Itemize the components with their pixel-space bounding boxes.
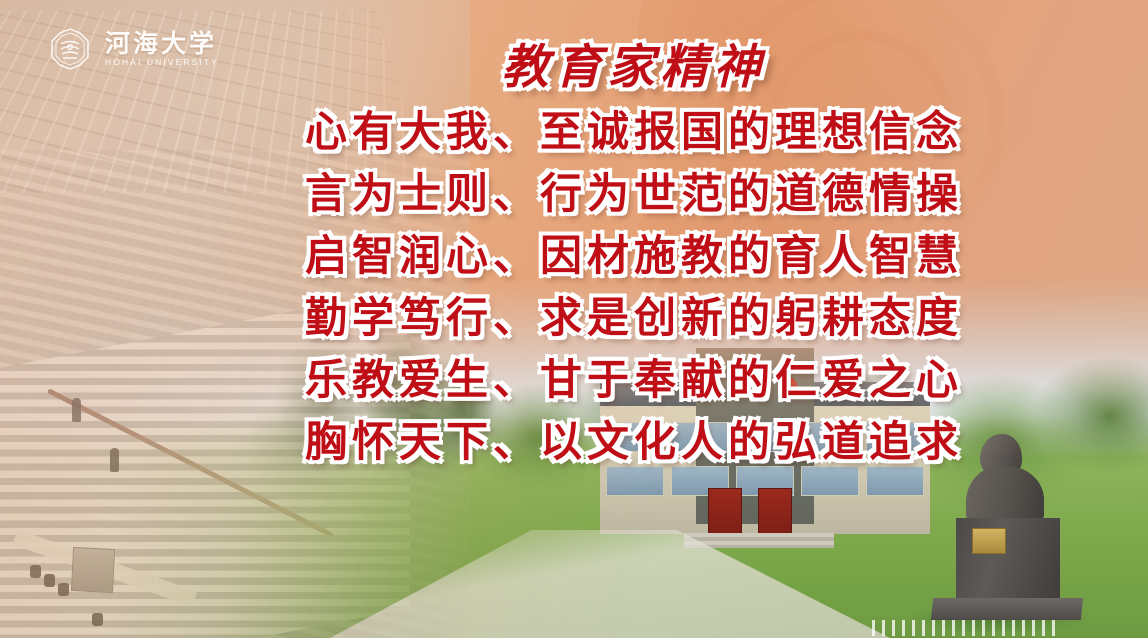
poster-title: 教育家精神 bbox=[120, 44, 1148, 93]
chair bbox=[44, 574, 55, 587]
slogan-line-3: 启智润心、因材施教的育人智慧 bbox=[120, 225, 1148, 287]
chair bbox=[58, 583, 69, 596]
slogan-line-5: 乐教爱生、甘于奉献的仁爱之心 bbox=[120, 349, 1148, 411]
chair bbox=[92, 613, 103, 626]
slogan-line-6: 胸怀天下、以文化人的弘道追求 bbox=[120, 411, 1148, 473]
slogan-block: 教育家精神 心有大我、至诚报国的理想信念 言为士则、行为世范的道德情操 启智润心… bbox=[0, 44, 1148, 473]
poster-canvas: 河海大学 HOHAI UNIVERSITY 教育家精神 心有大我、至诚报国的理想… bbox=[0, 0, 1148, 638]
statue-plaque bbox=[972, 528, 1006, 554]
chair bbox=[30, 565, 41, 578]
picket-fence bbox=[872, 620, 1062, 636]
bookshelf bbox=[71, 547, 115, 593]
slogan-line-1: 心有大我、至诚报国的理想信念 bbox=[120, 101, 1148, 163]
slogan-line-2: 言为士则、行为世范的道德情操 bbox=[120, 163, 1148, 225]
slogan-line-4: 勤学笃行、求是创新的躬耕态度 bbox=[120, 287, 1148, 349]
